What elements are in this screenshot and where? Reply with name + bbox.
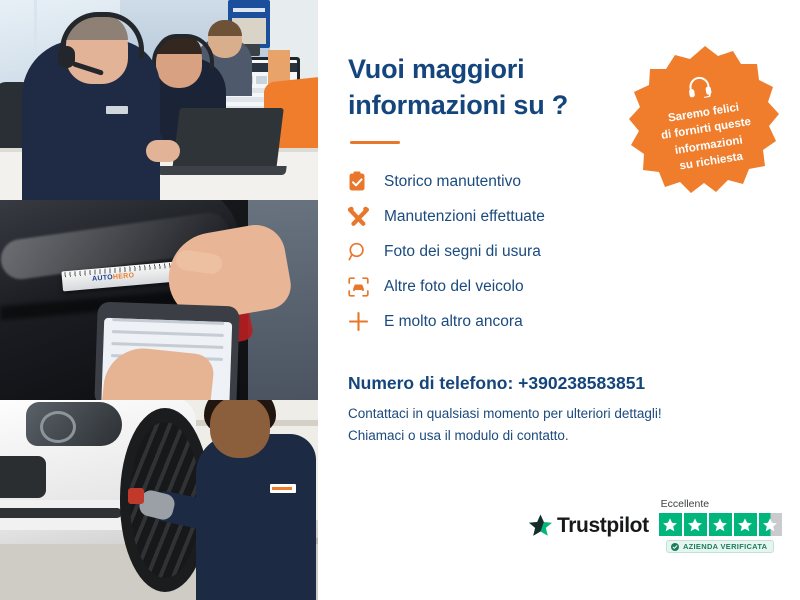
check-circle-icon xyxy=(671,543,679,551)
agent-primary xyxy=(22,40,160,200)
plus-icon xyxy=(348,311,378,332)
list-item-label: Altre foto del veicolo xyxy=(378,278,524,296)
car-scan-frame-icon xyxy=(348,277,378,297)
clipboard-check-icon xyxy=(348,171,378,192)
promo-page: AUTOHERO xyxy=(0,0,800,600)
star-rating xyxy=(659,513,782,536)
star-icon-half xyxy=(759,513,782,536)
list-item-label: Storico manutentivo xyxy=(378,173,521,191)
trustpilot-logo: Trustpilot xyxy=(528,513,649,538)
phone-number[interactable]: +390238583851 xyxy=(518,373,645,393)
list-item-label: Manutenzioni effettuate xyxy=(378,208,545,226)
laptop xyxy=(172,108,284,170)
list-item-label: Foto dei segni di usura xyxy=(378,243,541,261)
star-icon xyxy=(684,513,707,536)
star-icon xyxy=(709,513,732,536)
brand-text-hero: HERO xyxy=(113,272,135,281)
star-icon xyxy=(659,513,682,536)
vehicle-inspection-ruler-photo: AUTOHERO xyxy=(0,200,318,400)
star-icon xyxy=(734,513,757,536)
contact-line-1: Contattaci in qualsiasi momento per ulte… xyxy=(348,403,748,425)
star-icon xyxy=(528,513,553,538)
rating-label: Eccellente xyxy=(659,498,709,510)
uniform-badge xyxy=(106,106,128,114)
mechanic-head xyxy=(210,400,270,458)
badge-content: Saremo felici di fornirti queste informa… xyxy=(613,30,796,213)
page-title: Vuoi maggiori informazioni su ? xyxy=(348,52,618,123)
status-badge: AZIENDA VERIFICATA xyxy=(666,540,774,553)
mechanic-uniform-logo xyxy=(270,484,296,493)
headset-icon xyxy=(685,72,715,105)
phone-line: Numero di telefono: +390238583851 xyxy=(348,373,800,394)
list-item: E molto altro ancora xyxy=(348,304,800,339)
car-grille xyxy=(0,456,46,498)
list-item: Altre foto del veicolo xyxy=(348,269,800,304)
tools-wrench-screwdriver-icon xyxy=(348,206,378,227)
info-badge: Saremo felici di fornirti queste informa… xyxy=(625,42,785,202)
call-center-agents-photo xyxy=(0,0,318,200)
agent-hand xyxy=(146,140,180,162)
car-headlight xyxy=(26,402,122,446)
contact-description: Contattaci in qualsiasi momento per ulte… xyxy=(348,403,748,446)
list-item: Manutenzioni effettuate xyxy=(348,199,800,234)
contact-line-2: Chiamaci o usa il modulo di contatto. xyxy=(348,425,748,447)
phone-label: Numero di telefono: xyxy=(348,373,513,393)
photo-column: AUTOHERO xyxy=(0,0,318,600)
tire-inspection-photo xyxy=(0,400,318,600)
list-item: Foto dei segni di usura xyxy=(348,234,800,269)
verified-label: AZIENDA VERIFICATA xyxy=(683,542,767,551)
magnifier-icon xyxy=(348,242,378,262)
trustpilot-wordmark: Trustpilot xyxy=(557,514,649,538)
badge-text: Saremo felici di fornirti queste informa… xyxy=(643,96,772,179)
brand-text-auto: AUTO xyxy=(92,274,113,283)
list-item-label: E molto altro ancora xyxy=(378,313,523,331)
title-divider xyxy=(350,141,400,144)
trustpilot-widget[interactable]: Trustpilot Eccellente AZIENDA VERIFICATA xyxy=(528,498,782,553)
measuring-tool xyxy=(128,488,144,504)
trustpilot-rating: Eccellente AZIENDA VERIFICATA xyxy=(659,498,782,553)
